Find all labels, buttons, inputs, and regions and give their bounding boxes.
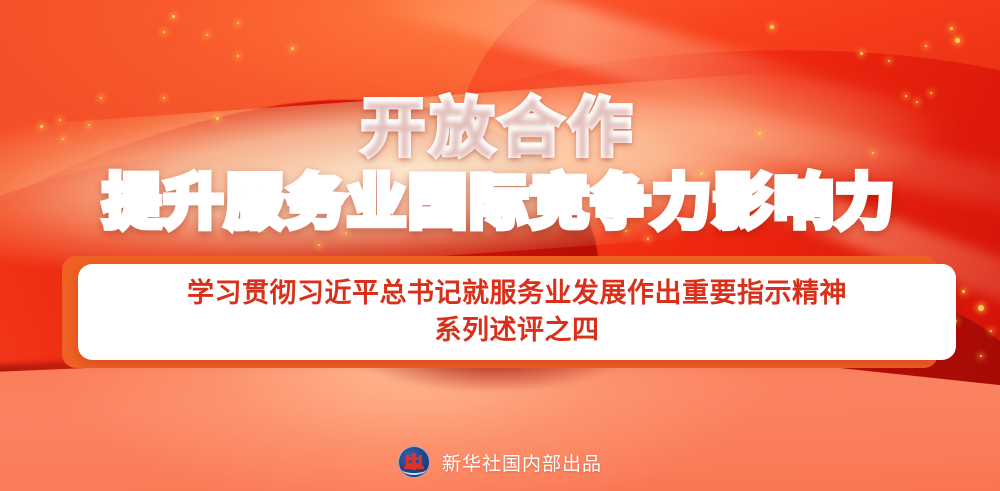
xinhua-news-agency-logo-icon — [398, 446, 430, 478]
footer-credit: 新华社国内部出品 — [0, 446, 1000, 478]
sparkle-dot — [962, 290, 965, 293]
sparkle-dot — [770, 25, 774, 29]
gold-sparkle-layer — [0, 0, 1000, 491]
subtitle-panel-card: 学习贯彻习近平总书记就服务业发展作出重要指示精神 系列述评之四 — [78, 264, 956, 360]
sparkle-dot — [980, 355, 982, 357]
sparkle-dot — [990, 330, 992, 332]
sparkle-dot — [163, 31, 165, 33]
sparkle-dot — [955, 38, 960, 43]
sparkle-dot — [206, 34, 208, 36]
sparkle-dot — [925, 45, 927, 47]
headline-secondary: 提升服务业国际竞争力影响力 — [0, 168, 1000, 238]
sparkle-dot — [647, 238, 649, 240]
sparkle-dot — [237, 55, 239, 57]
sparkle-dot — [860, 52, 863, 55]
sparkle-dot — [888, 60, 890, 62]
sparkle-dot — [978, 305, 984, 311]
footer-credit-text: 新华社国内部出品 — [442, 449, 602, 476]
sparkle-dot — [172, 15, 175, 18]
subtitle-panel: 学习贯彻习近平总书记就服务业发展作出重要指示精神 系列述评之四 — [62, 256, 938, 368]
headline-primary: 开放合作 — [0, 92, 1000, 166]
subtitle-line-1: 学习贯彻习近平总书记就服务业发展作出重要指示精神 — [187, 275, 847, 312]
sparkle-dot — [950, 27, 953, 30]
subtitle-line-2: 系列述评之四 — [435, 312, 600, 349]
poster-canvas: 开放合作 提升服务业国际竞争力影响力 学习贯彻习近平总书记就服务业发展作出重要指… — [0, 0, 1000, 491]
sparkle-dot — [318, 244, 320, 246]
sparkle-dot — [237, 22, 239, 24]
headline-block: 开放合作 提升服务业国际竞争力影响力 — [0, 92, 1000, 238]
sparkle-dot — [291, 47, 294, 50]
